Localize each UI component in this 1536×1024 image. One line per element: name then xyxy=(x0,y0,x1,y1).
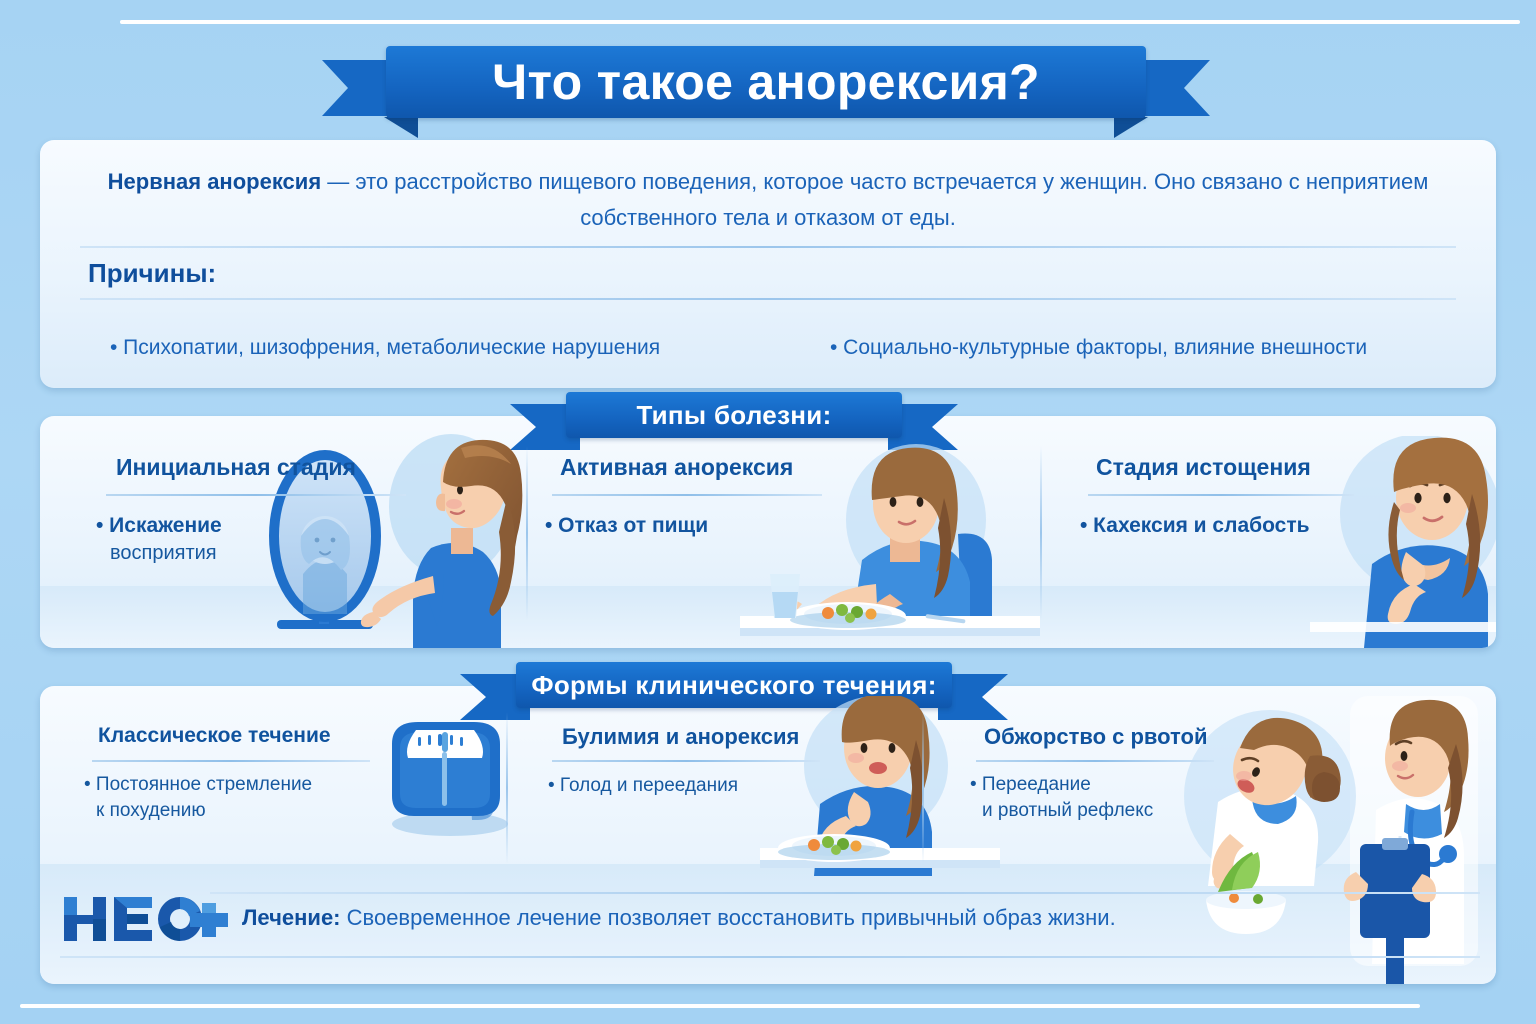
footer-divider-bottom xyxy=(60,956,1480,958)
types-banner-ribbon: Типы болезни: xyxy=(566,392,902,438)
form-3-item-line1: • Переедание xyxy=(970,772,1153,798)
type-1-item: • Искажение восприятия xyxy=(96,512,222,567)
forms-banner-ribbon: Формы клинического течения: xyxy=(516,662,952,708)
form-2-item: • Голод и переедания xyxy=(548,772,738,799)
treatment-text: Своевременное лечение позволяет восстано… xyxy=(341,905,1116,930)
ribbon-fold-right xyxy=(1114,117,1148,138)
type-1-heading: Инициальная стадия xyxy=(116,454,356,481)
infographic-page: Что такое анорексия? Нервная анорексия —… xyxy=(0,0,1536,1024)
column-divider-1 xyxy=(506,712,508,864)
column-divider-1 xyxy=(526,446,528,620)
form-2-heading: Булимия и анорексия xyxy=(562,724,799,750)
bottom-divider-line xyxy=(20,1004,1420,1008)
type-1-item-line2: восприятия xyxy=(96,540,222,567)
intro-divider xyxy=(80,246,1456,248)
page-title-ribbon: Что такое анорексия? xyxy=(386,46,1146,118)
form-3-heading: Обжорство с рвотой xyxy=(984,724,1208,750)
cause-item-1: • Психопатии, шизофрения, метаболические… xyxy=(110,336,660,360)
causes-heading: Причины: xyxy=(88,258,216,289)
logo-mark xyxy=(60,893,230,945)
ribbon-body: Типы болезни: xyxy=(566,392,902,438)
forms-banner-label: Формы клинического течения: xyxy=(531,670,936,701)
form-2-divider xyxy=(552,760,820,762)
causes-divider xyxy=(80,298,1456,300)
type-1-divider xyxy=(106,494,406,496)
weight-scale-icon xyxy=(370,708,520,840)
neo-plus-logo xyxy=(60,893,230,945)
form-1-divider xyxy=(92,760,370,762)
ribbon-body: Формы клинического течения: xyxy=(516,662,952,708)
cause-item-2: • Социально-культурные факторы, влияние … xyxy=(830,336,1367,360)
form-1-item-line2: к похудению xyxy=(84,798,312,824)
treatment-line: Лечение: Своевременное лечение позволяет… xyxy=(242,905,1116,931)
intro-body: — это расстройство пищевого поведения, к… xyxy=(321,169,1428,230)
column-divider-2 xyxy=(1040,446,1042,620)
form-3-divider xyxy=(976,760,1214,762)
type-2-item-line1: • Отказ от пищи xyxy=(545,514,708,537)
card-floor-band xyxy=(40,586,1496,648)
form-3-item-line2: и рвотный рефлекс xyxy=(970,798,1153,824)
type-3-item: • Кахексия и слабость xyxy=(1080,512,1310,540)
intro-lead: Нервная анорексия xyxy=(108,169,322,194)
ribbon-body: Что такое анорексия? xyxy=(386,46,1146,118)
form-3-item: • Переедание и рвотный рефлекс xyxy=(970,772,1153,824)
type-2-item: • Отказ от пищи xyxy=(545,512,708,540)
form-2-heading-suffix: и анорексия xyxy=(660,724,800,749)
page-title: Что такое анорексия? xyxy=(492,53,1040,111)
type-3-divider xyxy=(1088,494,1354,496)
intro-card: Нервная анорексия — это расстройство пищ… xyxy=(40,140,1496,388)
intro-paragraph: Нервная анорексия — это расстройство пищ… xyxy=(80,164,1456,236)
type-3-item-line1: • Кахексия и слабость xyxy=(1080,514,1310,537)
form-1-item-line1: • Постоянное стремление xyxy=(84,772,312,798)
footer-divider-top xyxy=(210,892,1480,894)
type-1-item-line1: • Искажение xyxy=(96,514,222,537)
treatment-label: Лечение: xyxy=(242,905,341,930)
types-card: Инициальная стадия • Искажение восприяти… xyxy=(40,416,1496,648)
top-divider-line xyxy=(120,20,1520,24)
form-2-heading-main: Булимия xyxy=(562,724,660,749)
forms-card: Классическое течение • Постоянное стремл… xyxy=(40,686,1496,984)
types-banner-label: Типы болезни: xyxy=(636,400,831,431)
form-1-heading: Классическое течение xyxy=(98,724,331,748)
woman-eating-illustration xyxy=(760,696,1000,876)
type-2-heading: Активная анорексия xyxy=(560,454,793,481)
form-2-item-line1: • Голод и переедания xyxy=(548,772,738,799)
column-divider-2 xyxy=(922,712,924,864)
type-2-divider xyxy=(552,494,822,496)
form-1-item: • Постоянное стремление к похудению xyxy=(84,772,312,824)
ribbon-fold-left xyxy=(384,117,418,138)
type-3-heading: Стадия истощения xyxy=(1096,454,1311,481)
